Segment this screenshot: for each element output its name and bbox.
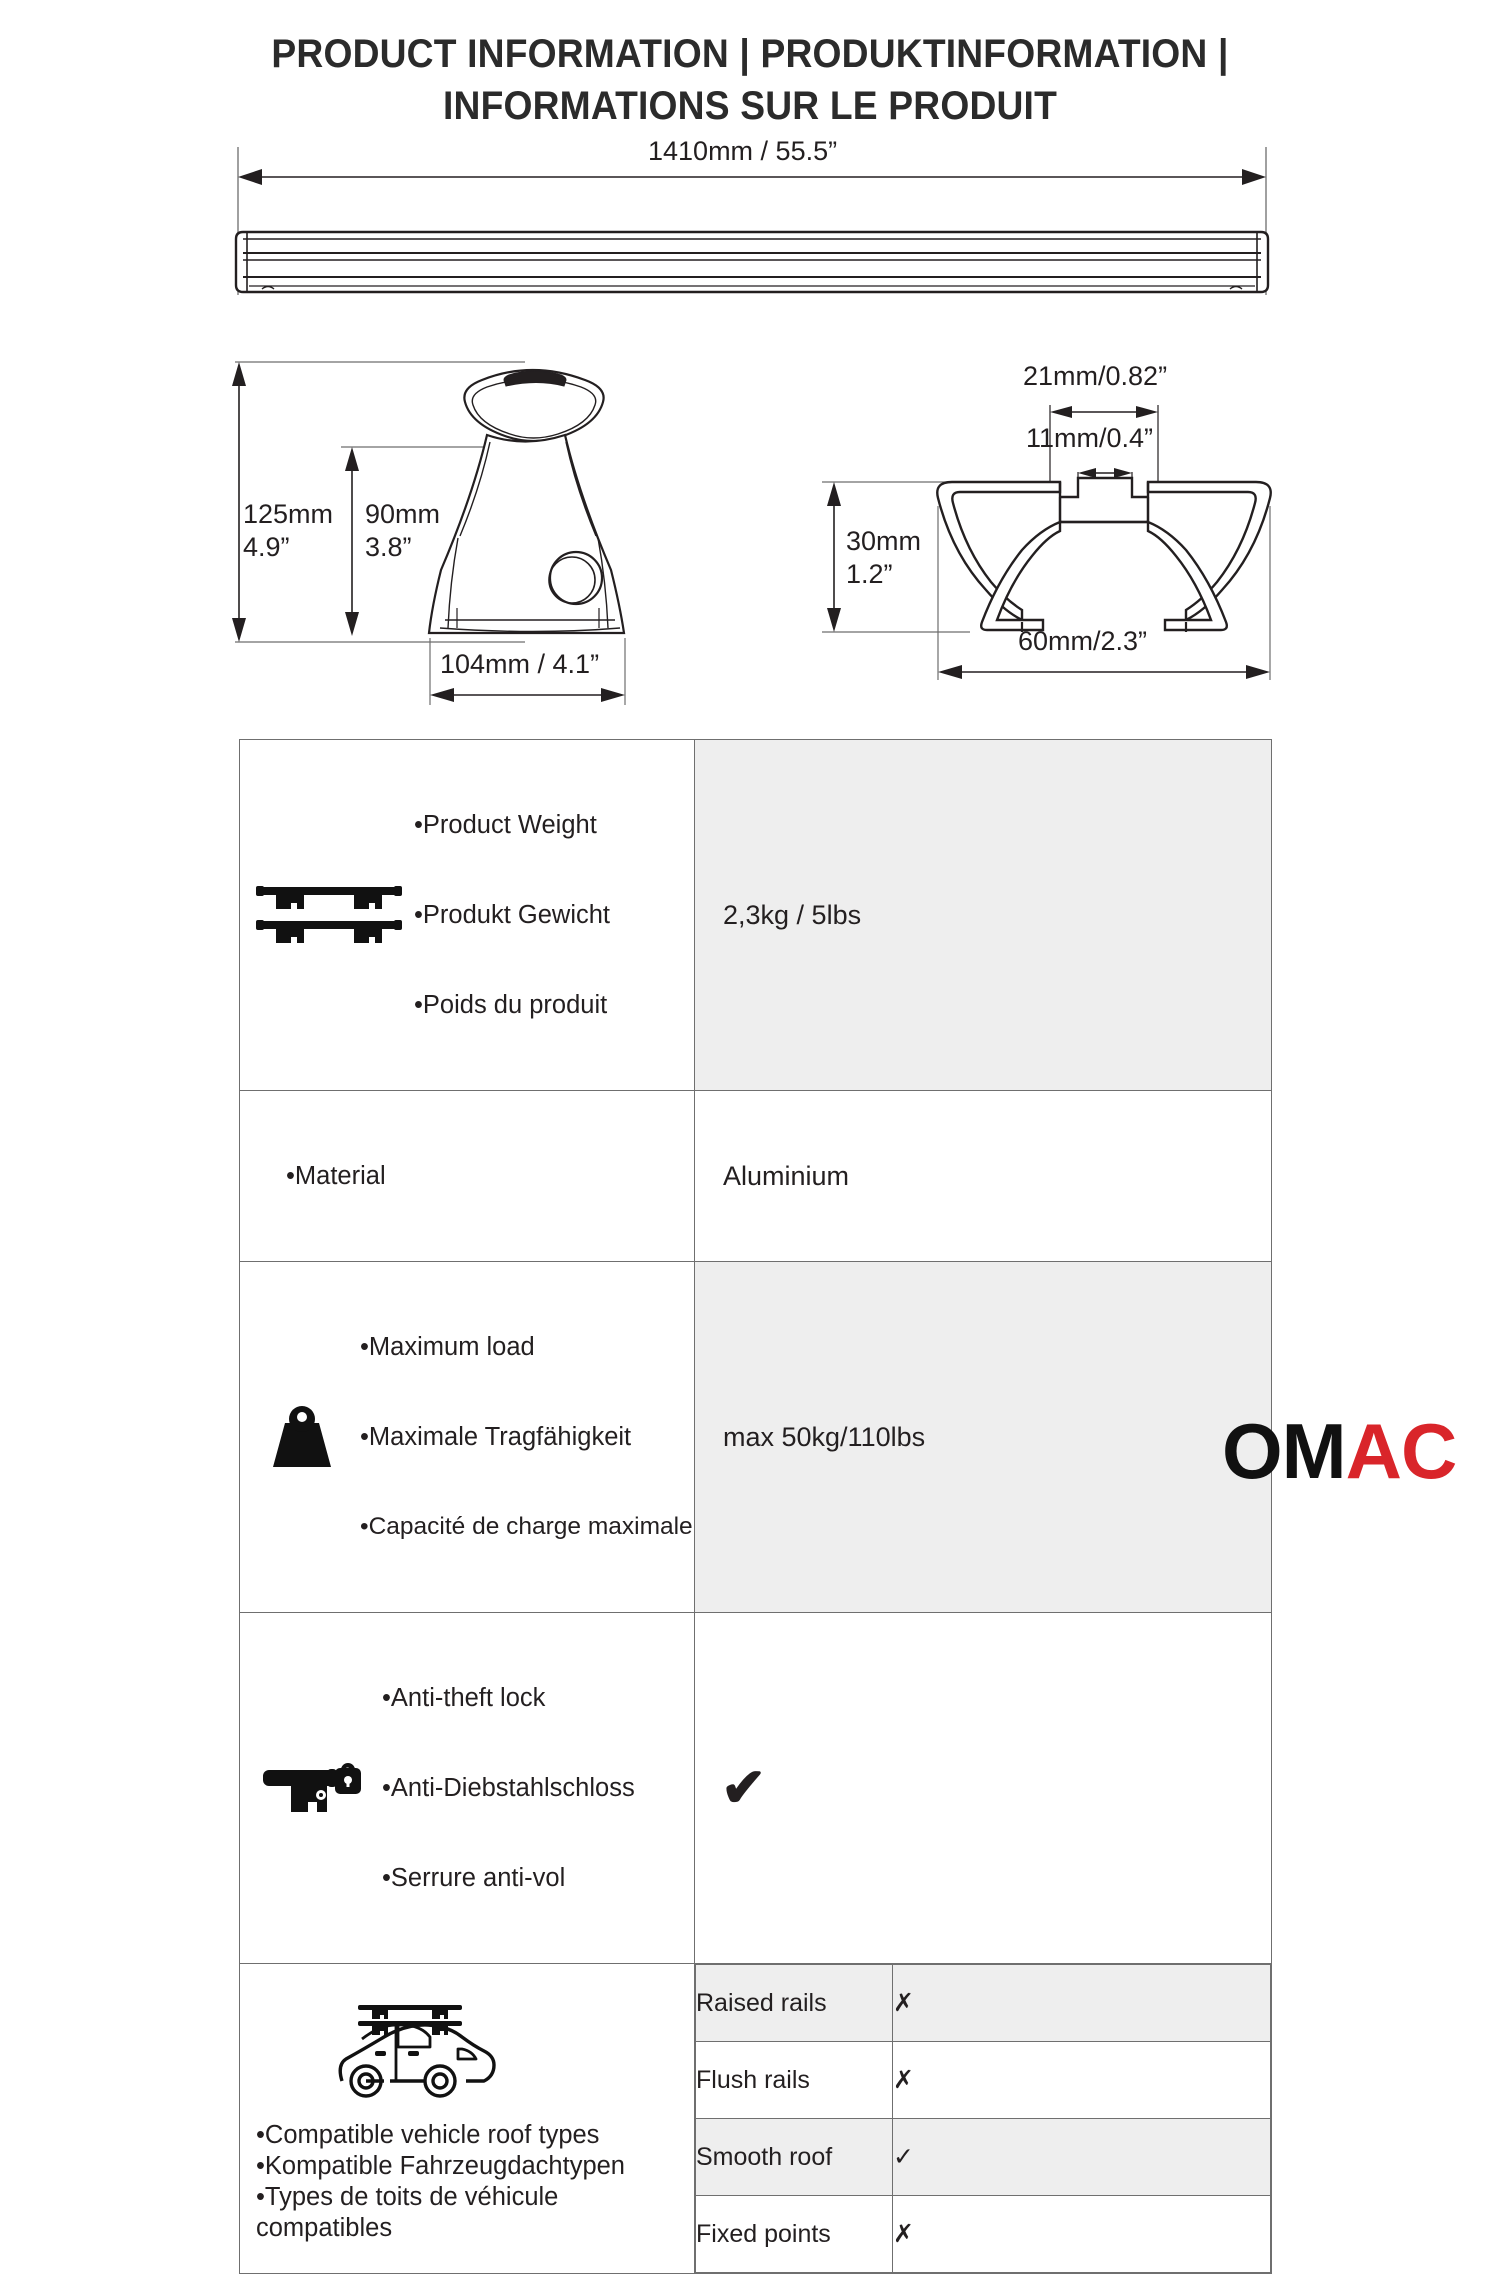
table-row: •Product Weight •Produkt Gewicht •Poids … bbox=[240, 740, 1272, 1091]
roof-types-value-cell: Raised rails ✗ Flush rails ✗ Smooth roof… bbox=[695, 1964, 1272, 2274]
material-bullets: •Material bbox=[254, 1101, 386, 1251]
roof-type-label: Flush rails bbox=[696, 2042, 893, 2119]
roof-type-mark-cross-icon: ✗ bbox=[893, 2196, 1271, 2273]
material-label-cell: •Material bbox=[240, 1091, 695, 1262]
tower-front-view-drawing: 125mm4.9” 90mm3.8” 104mm / 4.1” bbox=[225, 350, 725, 710]
roof-type-row: Raised rails ✗ bbox=[696, 1965, 1271, 2042]
lock-label-cell: •Anti-theft lock •Anti-Diebstahlschloss … bbox=[240, 1613, 695, 1964]
weight-value-cell: 2,3kg / 5lbs bbox=[695, 740, 1272, 1091]
tower-width-label: 104mm / 4.1” bbox=[440, 648, 599, 681]
roof-type-label: Smooth roof bbox=[696, 2119, 893, 2196]
lock-check-icon: ✔ bbox=[695, 1761, 1271, 1815]
omac-logo: OMAC bbox=[1222, 1412, 1456, 1490]
page-title: PRODUCT INFORMATION | PRODUKTINFORMATION… bbox=[0, 28, 1500, 132]
bullet-line: •Maximale Tragfähigkeit bbox=[360, 1422, 693, 1452]
bullet-line: •Anti-Diebstahlschloss bbox=[382, 1773, 635, 1803]
car-with-rack-icon bbox=[240, 1993, 694, 2114]
bullet-line: •Compatible vehicle roof types bbox=[256, 2120, 694, 2151]
tower-total-height-label: 125mm4.9” bbox=[243, 498, 333, 564]
roof-type-label: Fixed points bbox=[696, 2196, 893, 2273]
roof-types-bullets: •Compatible vehicle roof types •Kompatib… bbox=[240, 2114, 694, 2244]
roof-type-label: Raised rails bbox=[696, 1965, 893, 2042]
logo-text-om: OM bbox=[1222, 1407, 1346, 1495]
maxload-value-cell: max 50kg/110lbs bbox=[695, 1262, 1272, 1613]
material-value-cell: Aluminium bbox=[695, 1091, 1272, 1262]
roof-type-row: Fixed points ✗ bbox=[696, 2196, 1271, 2273]
roof-type-row: Flush rails ✗ bbox=[696, 2042, 1271, 2119]
roof-bars-icon bbox=[254, 879, 404, 951]
bullet-line: •Maximum load bbox=[360, 1332, 693, 1362]
bullet-line: •Material bbox=[286, 1161, 386, 1191]
roof-types-subtable: Raised rails ✗ Flush rails ✗ Smooth roof… bbox=[695, 1964, 1271, 2273]
bullet-line: compatibles bbox=[256, 2213, 694, 2244]
profile-outer-slot-label: 21mm/0.82” bbox=[1023, 360, 1167, 393]
bullet-line: •Kompatible Fahrzeugdachtypen bbox=[256, 2151, 694, 2182]
weight-value: 2,3kg / 5lbs bbox=[695, 900, 1271, 931]
lock-bullets: •Anti-theft lock •Anti-Diebstahlschloss … bbox=[382, 1623, 635, 1953]
maxload-label-cell: •Maximum load •Maximale Tragfähigkeit •C… bbox=[240, 1262, 695, 1613]
roof-type-mark-check-icon: ✓ bbox=[893, 2119, 1271, 2196]
bar-length-label: 1410mm / 55.5” bbox=[648, 135, 837, 168]
profile-height-label: 30mm1.2” bbox=[846, 525, 921, 591]
roof-type-mark-cross-icon: ✗ bbox=[893, 1965, 1271, 2042]
title-line-2: INFORMATIONS SUR LE PRODUIT bbox=[53, 80, 1448, 132]
bullet-line: •Produkt Gewicht bbox=[414, 900, 610, 930]
profile-inner-slot-label: 11mm/0.4” bbox=[1026, 422, 1153, 455]
bullet-line: •Serrure anti-vol bbox=[382, 1863, 635, 1893]
roof-type-row: Smooth roof ✓ bbox=[696, 2119, 1271, 2196]
weight-icon bbox=[254, 1401, 350, 1473]
bullet-line: •Types de toits de véhicule bbox=[256, 2182, 694, 2213]
weight-bullets: •Product Weight •Produkt Gewicht •Poids … bbox=[414, 750, 610, 1080]
bullet-line: •Anti-theft lock bbox=[382, 1683, 635, 1713]
roof-types-label-cell: •Compatible vehicle roof types •Kompatib… bbox=[240, 1964, 695, 2274]
table-row: •Anti-theft lock •Anti-Diebstahlschloss … bbox=[240, 1613, 1272, 1964]
table-row: •Compatible vehicle roof types •Kompatib… bbox=[240, 1964, 1272, 2274]
bullet-line: •Capacité de charge maximale bbox=[360, 1512, 693, 1542]
bar-cross-section-drawing: 21mm/0.82” 11mm/0.4” 30mm1.2” 60mm/2.3” bbox=[810, 360, 1290, 700]
product-spec-table: •Product Weight •Produkt Gewicht •Poids … bbox=[239, 739, 1272, 2274]
maxload-bullets: •Maximum load •Maximale Tragfähigkeit •C… bbox=[360, 1272, 693, 1602]
bullet-line: •Poids du produit bbox=[414, 990, 610, 1020]
crossbar-length-drawing: 1410mm / 55.5” bbox=[0, 135, 1500, 320]
table-row: •Material Aluminium bbox=[240, 1091, 1272, 1262]
maxload-value: max 50kg/110lbs bbox=[695, 1422, 1271, 1453]
profile-width-label: 60mm/2.3” bbox=[1018, 625, 1147, 658]
title-line-1: PRODUCT INFORMATION | PRODUKTINFORMATION… bbox=[53, 28, 1448, 80]
material-value: Aluminium bbox=[695, 1161, 1271, 1192]
table-row: •Maximum load •Maximale Tragfähigkeit •C… bbox=[240, 1262, 1272, 1613]
roof-type-mark-cross-icon: ✗ bbox=[893, 2042, 1271, 2119]
tower-inner-height-label: 90mm3.8” bbox=[365, 498, 440, 564]
lock-icon bbox=[254, 1754, 372, 1822]
bullet-line: •Product Weight bbox=[414, 810, 610, 840]
logo-text-ac: AC bbox=[1346, 1407, 1457, 1495]
weight-label-cell: •Product Weight •Produkt Gewicht •Poids … bbox=[240, 740, 695, 1091]
lock-value-cell: ✔ bbox=[695, 1613, 1272, 1964]
